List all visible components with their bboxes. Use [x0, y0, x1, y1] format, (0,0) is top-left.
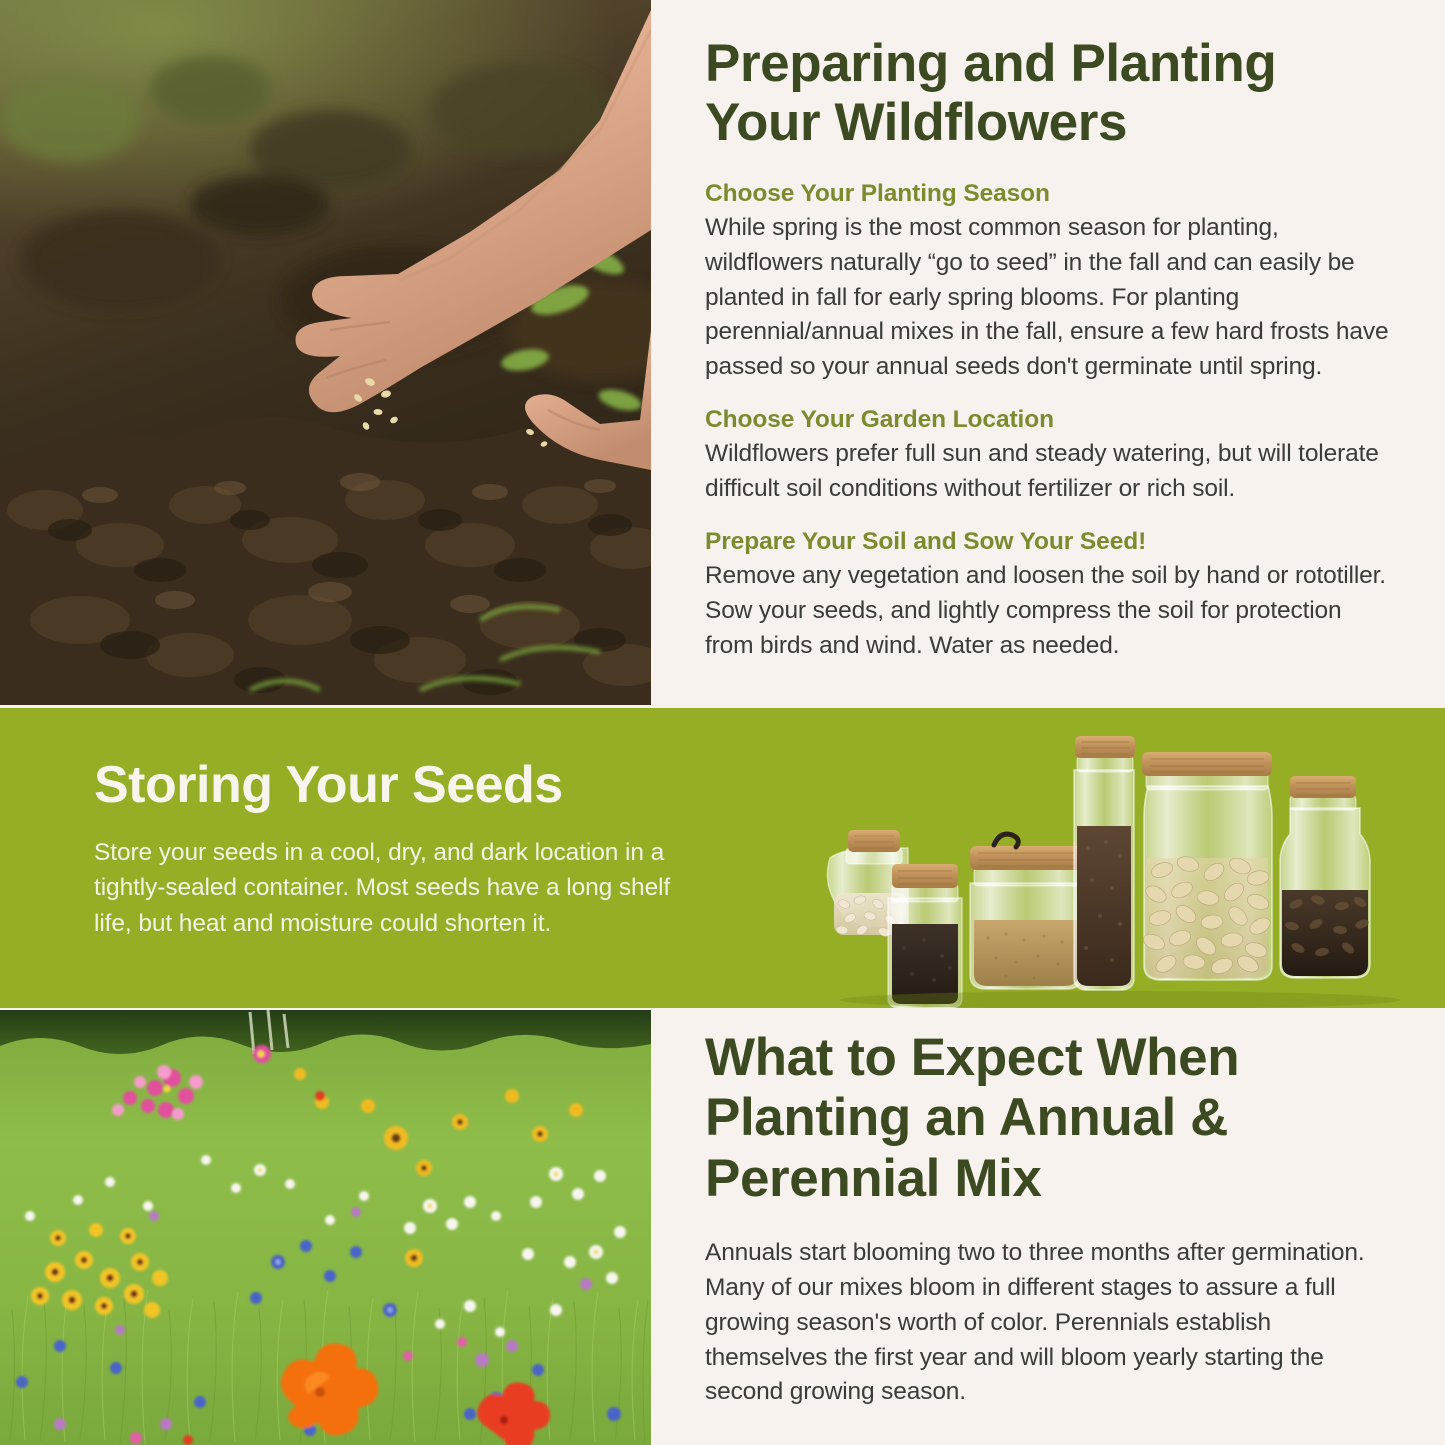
- what-to-expect-body: Annuals start blooming two to three mont…: [705, 1236, 1391, 1410]
- seed-jars-photo: [800, 708, 1445, 1008]
- subheading-garden-location: Choose Your Garden Location: [705, 405, 1391, 434]
- paragraph-prepare-soil: Remove any vegetation and loosen the soi…: [705, 559, 1391, 663]
- hand-sowing-seeds-photo: [0, 0, 651, 705]
- subheading-planting-season: Choose Your Planting Season: [705, 179, 1391, 208]
- top-text-column: Preparing and Planting Your Wildflowers …: [651, 0, 1445, 705]
- seed-jars-illustration: [800, 708, 1445, 1008]
- subheading-prepare-soil: Prepare Your Soil and Sow Your Seed!: [705, 527, 1391, 556]
- bottom-section: What to Expect When Planting an Annual &…: [0, 1010, 1445, 1445]
- paragraph-garden-location: Wildflowers prefer full sun and steady w…: [705, 437, 1391, 507]
- page-title: Preparing and Planting Your Wildflowers: [705, 34, 1391, 153]
- storing-seeds-title: Storing Your Seeds: [94, 758, 714, 813]
- wildflower-meadow-photo: [0, 1010, 651, 1445]
- top-section: Preparing and Planting Your Wildflowers …: [0, 0, 1445, 705]
- what-to-expect-title: What to Expect When Planting an Annual &…: [705, 1028, 1391, 1209]
- storing-seeds-body: Store your seeds in a cool, dry, and dar…: [94, 835, 714, 942]
- infographic-page: Preparing and Planting Your Wildflowers …: [0, 0, 1445, 1445]
- wildflower-meadow-illustration: [0, 1010, 651, 1445]
- storing-seeds-text: Storing Your Seeds Store your seeds in a…: [94, 758, 714, 941]
- storing-seeds-band: Storing Your Seeds Store your seeds in a…: [0, 708, 1445, 1008]
- soil-illustration: [0, 0, 651, 705]
- paragraph-planting-season: While spring is the most common season f…: [705, 211, 1391, 385]
- bottom-text-column: What to Expect When Planting an Annual &…: [651, 1010, 1445, 1445]
